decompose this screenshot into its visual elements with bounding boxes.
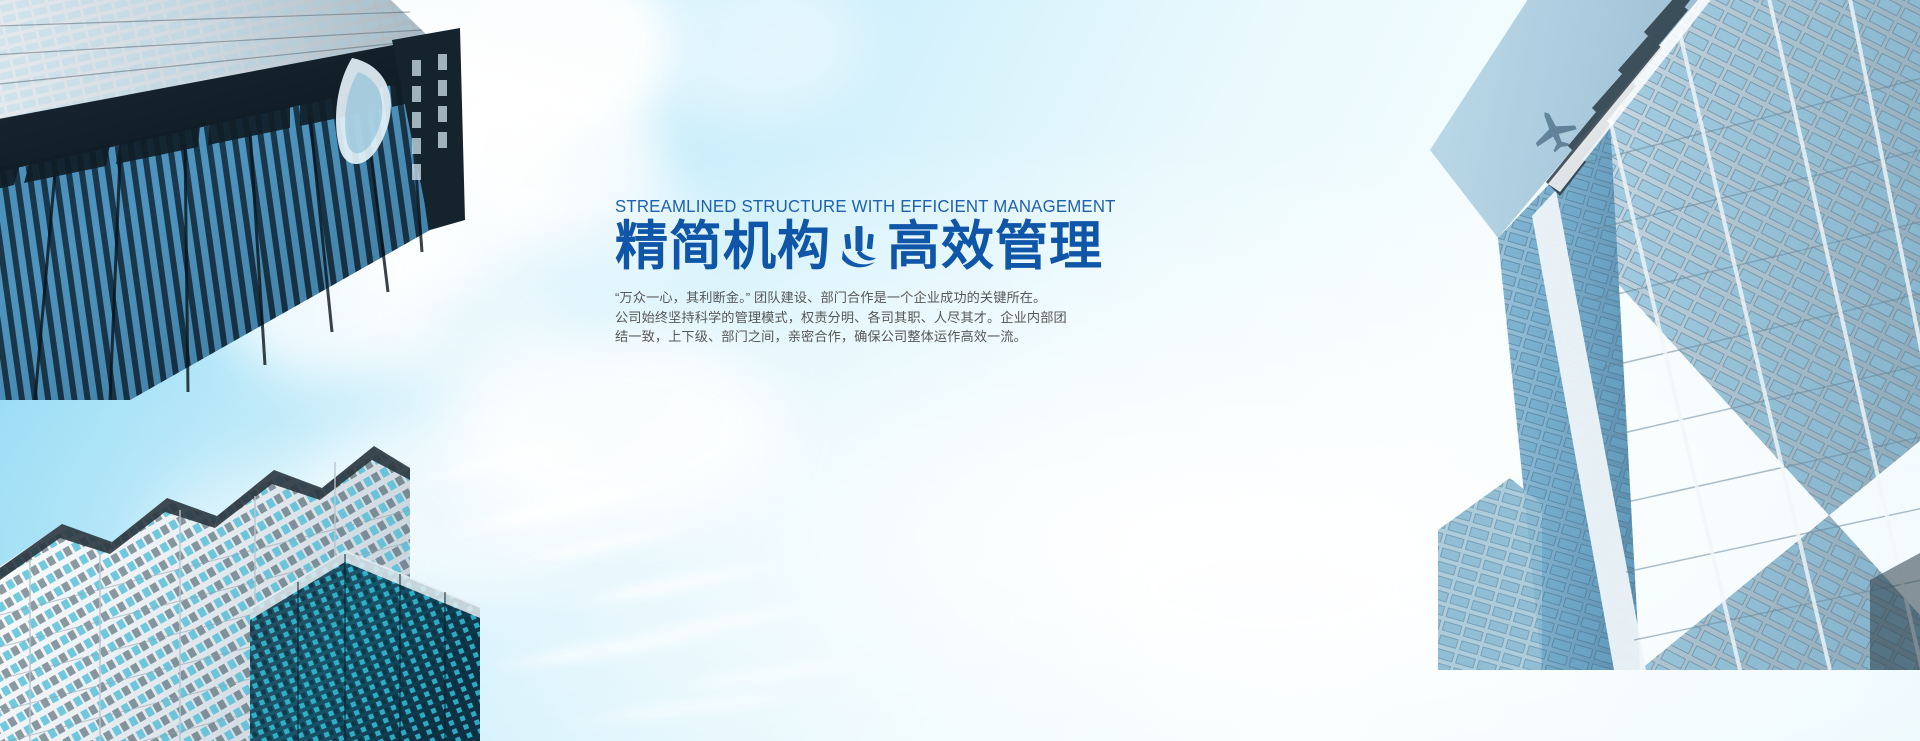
teal-glass-tower xyxy=(250,490,480,741)
paragraph-line-3: 结一致，上下级、部门之间，亲密合作，确保公司整体运作高效一流。 xyxy=(615,327,1035,347)
cirrus-streak xyxy=(481,622,740,677)
cirrus-streak xyxy=(560,683,839,730)
paragraph-line-2: 公司始终坚持科学的管理模式，权责分明、各司其职、人尽其才。企业内部团 xyxy=(615,308,1035,328)
brand-swoosh-mark-icon xyxy=(837,222,881,272)
paragraph-line-1: “万众一心，其利断金。” 团队建设、部门合作是一个企业成功的关键所在。 xyxy=(615,288,1035,308)
headline-text-left: 精简机构 xyxy=(615,219,831,275)
cloud-shape xyxy=(455,330,785,530)
cirrus-streak xyxy=(561,556,789,613)
cirrus-streak xyxy=(402,429,598,492)
headline-text-right: 高效管理 xyxy=(887,219,1103,275)
banner-headline: 精简机构 高效管理 xyxy=(615,219,1045,275)
light-glass-skyscraper xyxy=(1310,0,1920,670)
banner-eyebrow-english: STREAMLINED STRUCTURE WITH EFFICIENT MAN… xyxy=(615,196,1028,217)
cirrus-streak xyxy=(621,601,820,647)
banner-copy: STREAMLINED STRUCTURE WITH EFFICIENT MAN… xyxy=(615,196,1045,347)
banner-paragraph: “万众一心，其利断金。” 团队建设、部门合作是一个企业成功的关键所在。 公司始终… xyxy=(615,288,1035,347)
hero-banner: STREAMLINED STRUCTURE WITH EFFICIENT MAN… xyxy=(0,0,1920,741)
cirrus-streak xyxy=(501,516,709,571)
cloud-shape xyxy=(600,0,860,120)
cirrus-streak xyxy=(660,652,889,696)
